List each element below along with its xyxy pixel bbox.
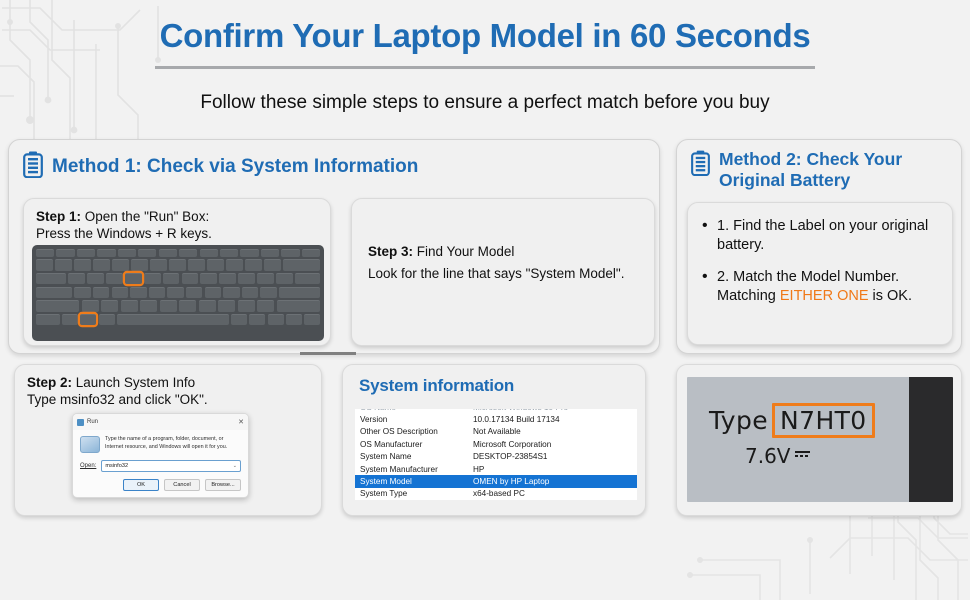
key-6[interactable]	[150, 259, 167, 271]
method-2-steps-card: 1. Find the Label on your original batte…	[687, 202, 953, 345]
key-r-highlighted[interactable]	[125, 273, 142, 285]
key-f[interactable]	[130, 287, 146, 299]
key-f4[interactable]	[118, 249, 136, 257]
key-q[interactable]	[68, 273, 85, 285]
key-2[interactable]	[74, 259, 91, 271]
keyboard	[32, 245, 324, 341]
battery-label-photo: TypeN7HT0 7.6V	[687, 377, 953, 502]
method-1-title: Method 1: Check via System Information	[52, 156, 418, 178]
key-a[interactable]	[74, 287, 90, 299]
key-backspace[interactable]	[283, 259, 320, 271]
step-3-heading: Find Your Model	[417, 244, 515, 259]
table-cell-value: HP	[473, 463, 637, 475]
key-f1[interactable]	[56, 249, 74, 257]
key-l[interactable]	[223, 287, 239, 299]
key-arrow-right[interactable]	[304, 314, 320, 326]
key-3[interactable]	[93, 259, 110, 271]
battery-type-line: TypeN7HT0	[709, 403, 875, 438]
table-row[interactable]: System ModelOMEN by HP Laptop	[355, 475, 637, 487]
table-cell-value: Microsoft Corporation	[473, 438, 637, 450]
method-2-header: Method 2: Check Your Original Battery	[677, 140, 961, 191]
step-1-label: Step 1:	[36, 209, 81, 224]
step-1-body: Press the Windows + R keys.	[36, 226, 212, 241]
method-1-card: Method 1: Check via System Information S…	[8, 139, 660, 354]
ok-button[interactable]: OK	[123, 479, 159, 491]
key-8[interactable]	[188, 259, 205, 271]
keyboard-row	[36, 259, 320, 271]
key-p[interactable]	[238, 273, 255, 285]
keyboard-row	[36, 273, 320, 285]
keyboard-row	[36, 249, 320, 257]
key-f11[interactable]	[261, 249, 279, 257]
battery-type-label: Type	[709, 406, 768, 435]
key-0[interactable]	[226, 259, 243, 271]
key-1[interactable]	[55, 259, 72, 271]
step-2-card: Step 2: Launch System Info Type msinfo32…	[14, 364, 322, 516]
direct-current-symbol-icon	[795, 449, 810, 458]
key-f2[interactable]	[77, 249, 95, 257]
method-2-title: Method 2: Check Your Original Battery	[719, 149, 902, 191]
key-j[interactable]	[186, 287, 202, 299]
key-n[interactable]	[179, 300, 196, 312]
key-alt-right[interactable]	[231, 314, 247, 326]
key-bracket-left[interactable]	[257, 273, 274, 285]
key-tab[interactable]	[36, 273, 66, 285]
method-1-header: Method 1: Check via System Information	[9, 140, 659, 183]
table-cell-item: System Type	[355, 488, 473, 500]
system-information-title: System information	[343, 365, 645, 396]
run-dialog-body: Type the name of a program, folder, docu…	[73, 430, 248, 453]
key-5[interactable]	[131, 259, 148, 271]
key-s[interactable]	[93, 287, 109, 299]
table-row[interactable]: System Typex64-based PC	[355, 488, 637, 500]
key-4[interactable]	[112, 259, 129, 271]
step-3-text: Step 3: Find Your Model Look for the lin…	[352, 199, 654, 285]
key-v[interactable]	[140, 300, 157, 312]
run-window-icon	[77, 419, 84, 426]
key-c[interactable]	[121, 300, 138, 312]
keyboard-row	[36, 300, 320, 312]
keyboard-row	[36, 287, 320, 299]
run-dialog-titlebar: Run ✕	[73, 414, 248, 430]
step-3-card: Step 3: Find Your Model Look for the lin…	[351, 198, 655, 346]
key-windows-highlighted[interactable]	[80, 314, 96, 326]
step-1-text: Step 1: Open the "Run" Box: Press the Wi…	[24, 199, 330, 242]
table-row[interactable]: Other OS DescriptionNot Available	[355, 426, 637, 438]
table-top-fade	[355, 401, 637, 409]
key-g[interactable]	[149, 287, 165, 299]
step-1-heading: Open the "Run" Box:	[85, 209, 209, 224]
key-f7[interactable]	[179, 249, 197, 257]
key-backslash[interactable]	[295, 273, 320, 285]
step-3-body: Look for the line that says "System Mode…	[368, 263, 654, 285]
table-row[interactable]: System NameDESKTOP-23854S1	[355, 451, 637, 463]
key-7[interactable]	[169, 259, 186, 271]
key-f12[interactable]	[281, 249, 299, 257]
key-x[interactable]	[101, 300, 118, 312]
key-b[interactable]	[160, 300, 177, 312]
key-o[interactable]	[219, 273, 236, 285]
battery-voltage-line: 7.6V	[745, 444, 810, 468]
cancel-button[interactable]: Cancel	[164, 479, 200, 491]
list-item: 2. Match the Model Number. Matching EITH…	[700, 268, 940, 306]
run-dialog-description: Type the name of a program, folder, docu…	[105, 436, 241, 453]
table-cell-item: System Manufacturer	[355, 463, 473, 475]
table-cell-item: Other OS Description	[355, 426, 473, 438]
key-m[interactable]	[199, 300, 216, 312]
key-menu[interactable]	[249, 314, 265, 326]
run-open-row: Open: msinfo32 ⌄	[73, 453, 248, 472]
key-period[interactable]	[238, 300, 255, 312]
keyboard-photo	[32, 245, 324, 345]
chevron-down-icon[interactable]: ⌄	[233, 463, 237, 469]
key-esc[interactable]	[36, 249, 54, 257]
run-dialog-footer: OK Cancel Browse...	[123, 479, 241, 491]
key-f9[interactable]	[220, 249, 238, 257]
step-2-heading: Launch System Info	[76, 375, 195, 390]
table-cell-item: System Name	[355, 451, 473, 463]
key-i[interactable]	[200, 273, 217, 285]
table-cell-value: x64-based PC	[473, 488, 637, 500]
system-information-table: OS NameMicrosoft Windows 10 ProVersion10…	[355, 401, 637, 500]
key-e[interactable]	[106, 273, 123, 285]
key-alt-left[interactable]	[99, 314, 115, 326]
table-row[interactable]: Version10.0.17134 Build 17134	[355, 413, 637, 425]
key-f8[interactable]	[200, 249, 218, 257]
key-f10[interactable]	[240, 249, 258, 257]
browse-button[interactable]: Browse...	[205, 479, 241, 491]
key-arrow-left[interactable]	[268, 314, 284, 326]
table-cell-item: OS Manufacturer	[355, 438, 473, 450]
key-slash[interactable]	[257, 300, 274, 312]
run-open-input[interactable]: msinfo32 ⌄	[101, 460, 241, 472]
method-2-card: Method 2: Check Your Original Battery 1.…	[676, 139, 962, 354]
run-open-value: msinfo32	[105, 463, 128, 469]
key-ctrl-left[interactable]	[36, 314, 60, 326]
battery-voltage: 7.6V	[745, 444, 791, 468]
step-2-body: Type msinfo32 and click "OK".	[27, 392, 208, 407]
page-title: Confirm Your Laptop Model in 60 Seconds	[0, 0, 970, 56]
method-2-bullet-list: 1. Find the Label on your original batte…	[700, 217, 940, 306]
key-z[interactable]	[82, 300, 99, 312]
key-equals[interactable]	[264, 259, 281, 271]
key-arrow-updown[interactable]	[286, 314, 302, 326]
step-2-label: Step 2:	[27, 375, 72, 390]
key-minus[interactable]	[245, 259, 262, 271]
key-9[interactable]	[207, 259, 224, 271]
table-cell-value: DESKTOP-23854S1	[473, 451, 637, 463]
battery-icon	[691, 150, 710, 181]
table-row[interactable]: System ManufacturerHP	[355, 463, 637, 475]
key-t[interactable]	[144, 273, 161, 285]
battery-photo-card: TypeN7HT0 7.6V	[676, 364, 962, 516]
key-quote[interactable]	[260, 287, 276, 299]
method-2-title-line1: Method 2: Check Your	[719, 149, 902, 169]
key-shift-left[interactable]	[36, 300, 79, 312]
system-information-card: System information OS NameMicrosoft Wind…	[342, 364, 646, 516]
methods-row: Method 1: Check via System Information S…	[0, 139, 970, 354]
key-f3[interactable]	[97, 249, 115, 257]
key-f5[interactable]	[138, 249, 156, 257]
bullet-2-text-after: is OK.	[869, 288, 913, 304]
battery-dark-edge	[909, 377, 953, 502]
key-h[interactable]	[167, 287, 183, 299]
table-cell-item: System Model	[355, 475, 473, 487]
key-enter[interactable]	[279, 287, 320, 299]
table-cell-item: Version	[355, 413, 473, 425]
page-subtitle: Follow these simple steps to ensure a pe…	[0, 91, 970, 115]
key-tilde[interactable]	[36, 259, 53, 271]
battery-icon	[23, 151, 43, 183]
run-dialog: Run ✕ Type the name of a program, folder…	[72, 413, 249, 498]
list-item: 1. Find the Label on your original batte…	[700, 217, 940, 255]
run-open-label: Open:	[80, 463, 96, 469]
key-w[interactable]	[87, 273, 104, 285]
bullet-1-text: 1. Find the Label on your original batte…	[717, 218, 928, 253]
key-y[interactable]	[163, 273, 180, 285]
key-f6[interactable]	[159, 249, 177, 257]
key-comma[interactable]	[218, 300, 235, 312]
key-bracket-right[interactable]	[276, 273, 293, 285]
key-capslock[interactable]	[36, 287, 72, 299]
key-delete[interactable]	[302, 249, 320, 257]
section-divider	[300, 352, 356, 355]
table-cell-value: OMEN by HP Laptop	[473, 475, 637, 487]
key-k[interactable]	[205, 287, 221, 299]
bullet-2-highlight: EITHER ONE	[780, 288, 869, 304]
close-icon[interactable]: ✕	[238, 418, 244, 426]
step-2-text: Step 2: Launch System Info Type msinfo32…	[15, 365, 321, 408]
key-fn[interactable]	[62, 314, 78, 326]
keyboard-row	[36, 314, 320, 326]
key-d[interactable]	[112, 287, 128, 299]
table-cell-value: Not Available	[473, 426, 637, 438]
step-1-card: Step 1: Open the "Run" Box: Press the Wi…	[23, 198, 331, 346]
key-semicolon[interactable]	[242, 287, 258, 299]
run-app-icon	[80, 436, 100, 453]
table-cell-value: 10.0.17134 Build 17134	[473, 413, 637, 425]
title-divider	[155, 66, 815, 69]
table-row[interactable]: OS ManufacturerMicrosoft Corporation	[355, 438, 637, 450]
method-2-title-line2: Original Battery	[719, 170, 850, 190]
run-dialog-title: Run	[87, 419, 98, 425]
page-header: Confirm Your Laptop Model in 60 Seconds …	[0, 0, 970, 115]
step-3-label: Step 3:	[368, 244, 413, 259]
battery-model-highlight-box: N7HT0	[772, 403, 875, 438]
key-u[interactable]	[182, 273, 199, 285]
key-shift-right[interactable]	[277, 300, 320, 312]
bottom-row: Step 2: Launch System Info Type msinfo32…	[0, 364, 970, 519]
key-space[interactable]	[117, 314, 229, 326]
